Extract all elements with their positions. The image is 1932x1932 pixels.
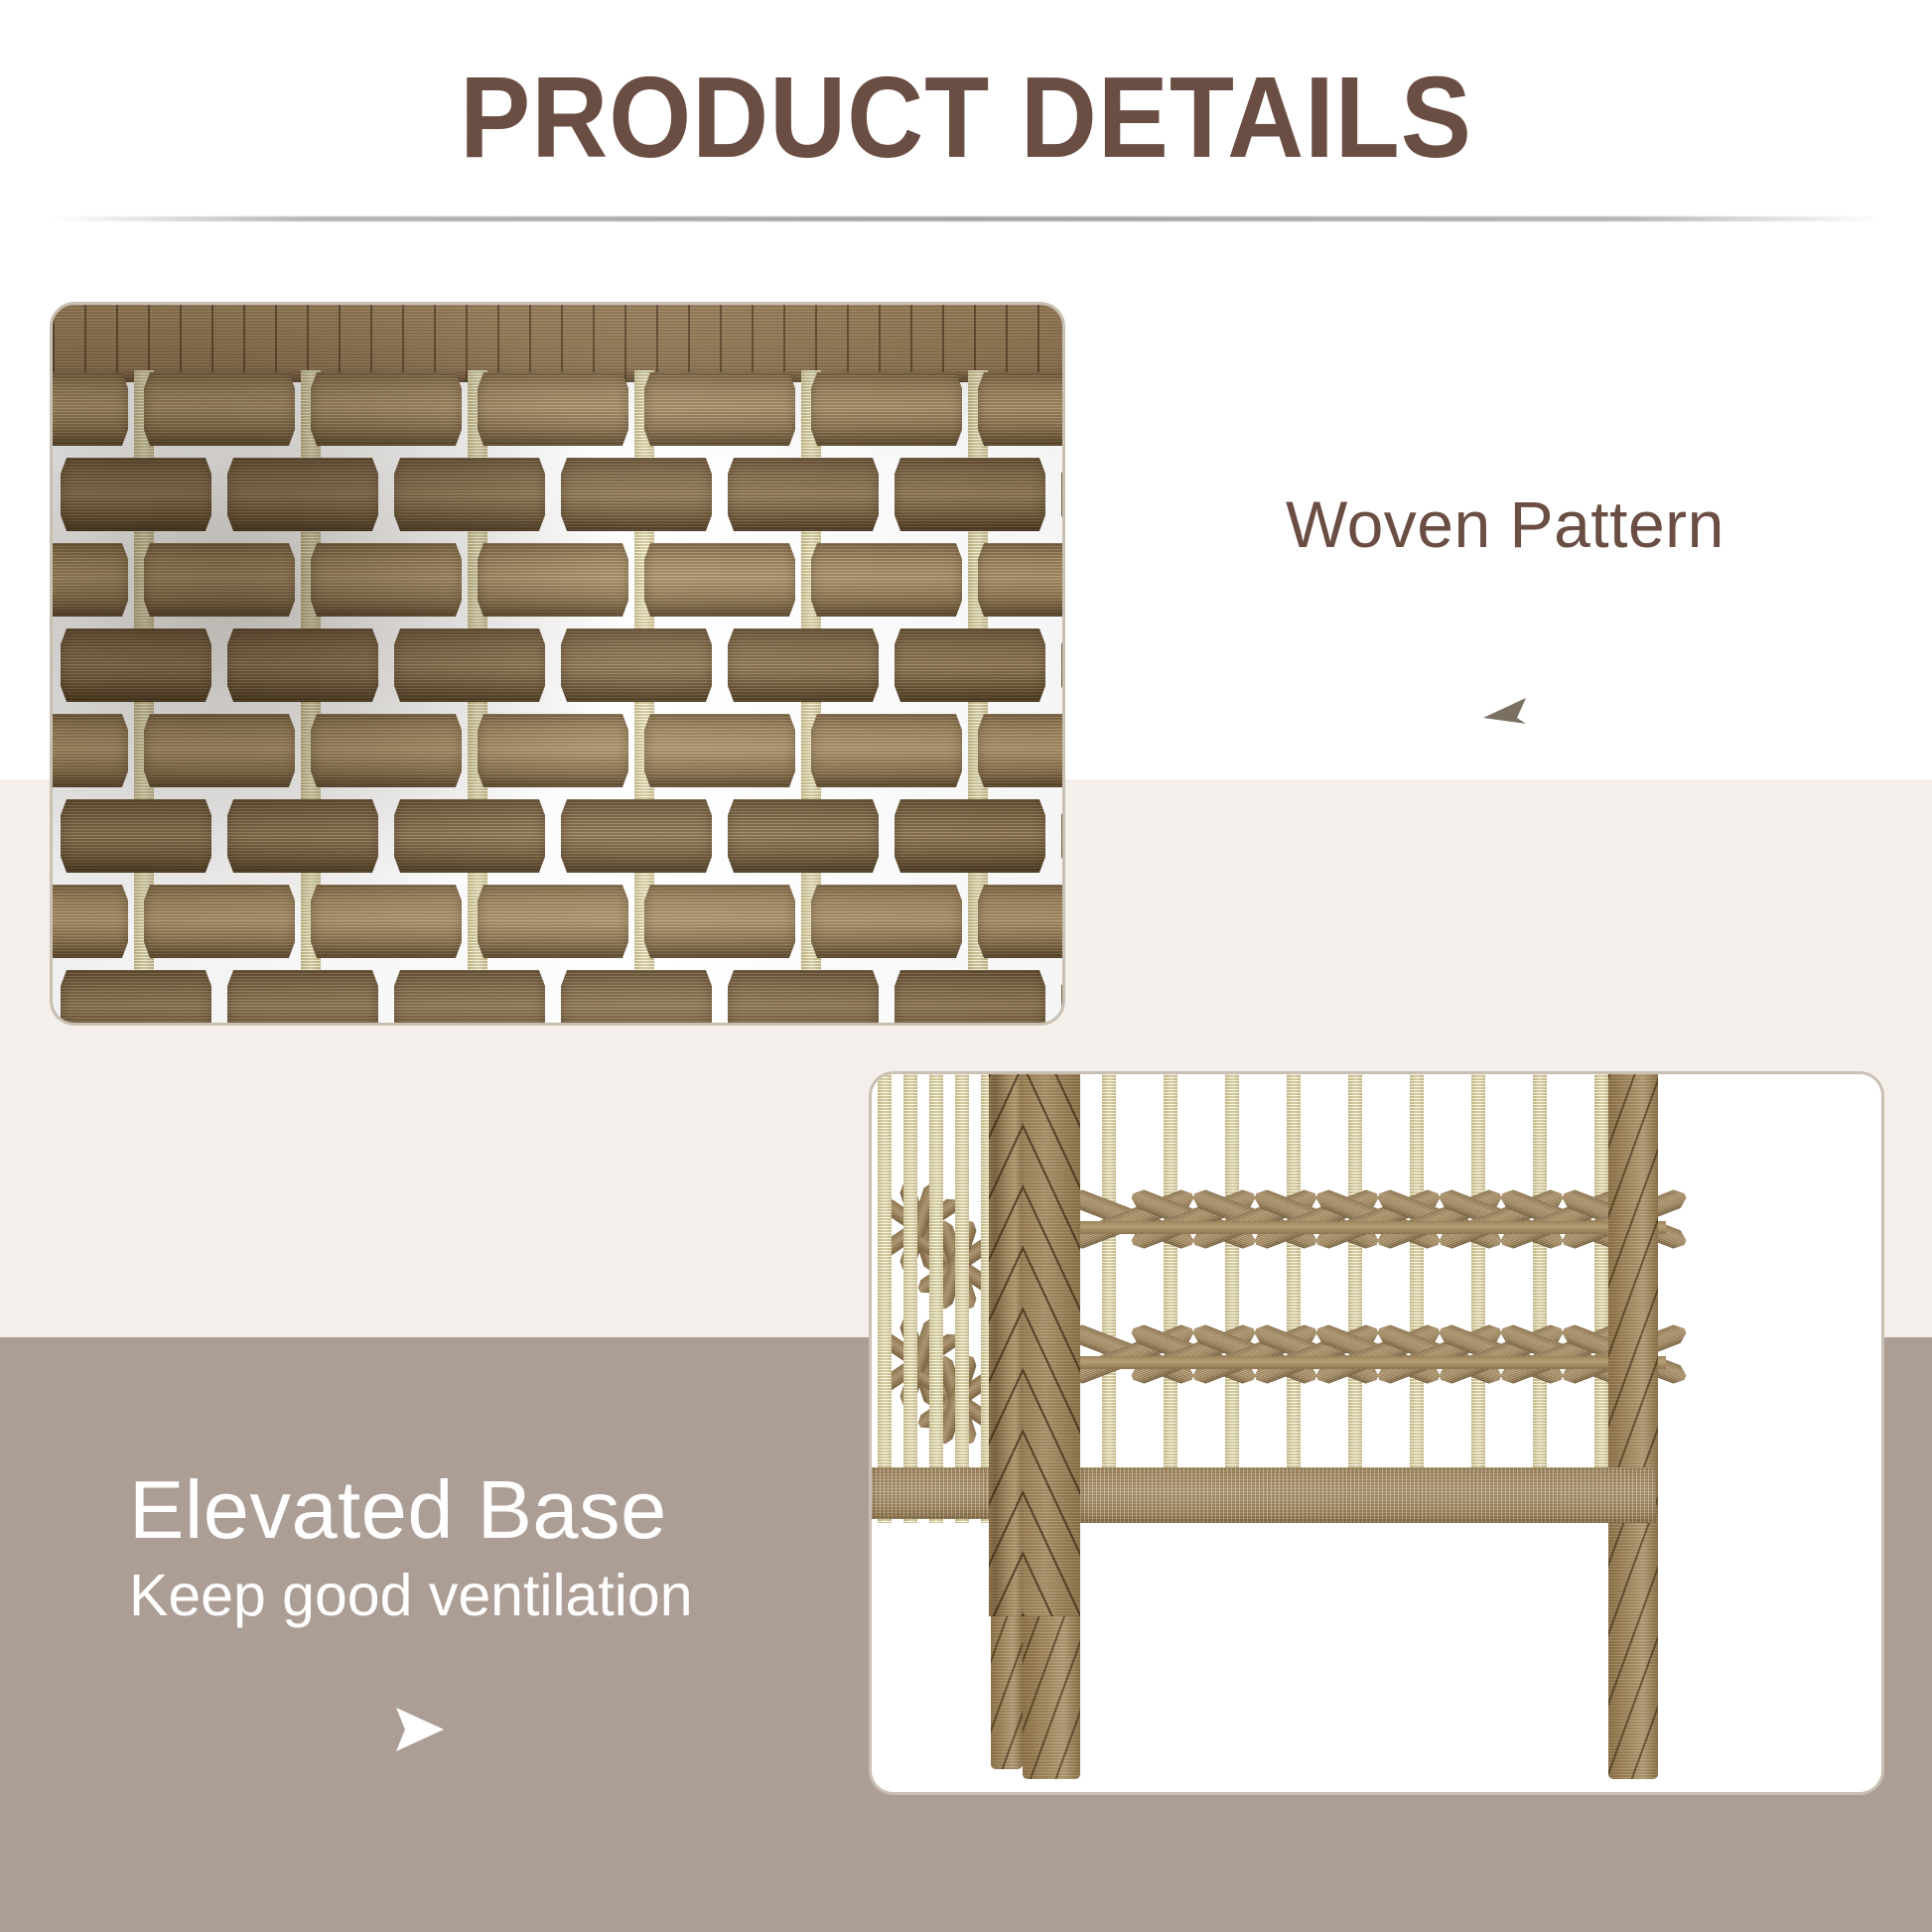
- elevated-base-title: Elevated Base: [129, 1467, 844, 1553]
- woven-pattern-illustration: [53, 305, 1062, 1023]
- planter-lattice-hbar: [1070, 1221, 1666, 1234]
- woven-strap: [311, 885, 462, 958]
- planter-vertical-post: [1471, 1074, 1485, 1521]
- woven-strap: [561, 970, 712, 1023]
- woven-strap-row: [53, 708, 1062, 793]
- woven-strap: [478, 714, 628, 787]
- woven-strap-row: [53, 793, 1062, 879]
- planter-side-post: [955, 1074, 969, 1523]
- woven-strap: [144, 885, 295, 958]
- planter-side-post: [929, 1074, 943, 1523]
- planter-side-knot: [911, 1219, 989, 1311]
- woven-pattern-label: Woven Pattern: [1286, 486, 1725, 562]
- woven-strap: [394, 799, 545, 873]
- woven-strap: [561, 458, 712, 531]
- woven-pattern-photo: [53, 305, 1062, 1023]
- planter-vertical-post: [1225, 1074, 1239, 1521]
- woven-strap: [311, 543, 462, 617]
- woven-strap: [61, 628, 211, 702]
- woven-strap: [394, 458, 545, 531]
- woven-strap: [53, 714, 128, 787]
- planter-corner-post-left: [989, 1074, 1023, 1616]
- woven-strap-row: [53, 879, 1062, 964]
- woven-strap: [478, 372, 628, 446]
- planter-vertical-post: [1102, 1074, 1116, 1521]
- woven-strap-row: [53, 537, 1062, 622]
- header-divider: [50, 216, 1882, 221]
- woven-strap: [1061, 628, 1062, 702]
- woven-strap-row: [53, 622, 1062, 708]
- woven-strap: [978, 885, 1062, 958]
- planter-vertical-post: [1533, 1074, 1547, 1521]
- woven-strap: [394, 970, 545, 1023]
- planter-vertical-post: [1164, 1074, 1177, 1521]
- woven-strap: [227, 628, 378, 702]
- planter-side-knot: [911, 1354, 989, 1446]
- planter-bottom-rail-left: [872, 1467, 1001, 1519]
- arrow-left-icon: [1479, 695, 1529, 743]
- woven-strap: [644, 543, 795, 617]
- woven-strap: [895, 458, 1045, 531]
- woven-strap-row: [53, 366, 1062, 452]
- elevated-base-illustration: [872, 1074, 1881, 1792]
- woven-strap: [227, 970, 378, 1023]
- woven-strap: [561, 799, 712, 873]
- woven-strap: [53, 885, 128, 958]
- woven-strap: [61, 458, 211, 531]
- planter-side-panel-weave: [872, 1074, 989, 1523]
- woven-strap: [394, 628, 545, 702]
- planter-vertical-post: [1287, 1074, 1301, 1521]
- woven-strap: [53, 543, 128, 617]
- woven-strap: [728, 799, 879, 873]
- woven-strap: [644, 372, 795, 446]
- woven-strap: [644, 714, 795, 787]
- planter-corner-post-face: [1023, 1074, 1080, 1616]
- infographic-canvas: PRODUCT DETAILS Woven Pattern E: [0, 0, 1932, 1932]
- woven-strap: [561, 628, 712, 702]
- woven-strap: [1061, 458, 1062, 531]
- woven-strap: [895, 799, 1045, 873]
- planter-vertical-post: [1594, 1074, 1608, 1521]
- woven-strap: [728, 970, 879, 1023]
- woven-strap: [811, 885, 962, 958]
- woven-strap: [227, 799, 378, 873]
- arrow-right-icon: [392, 1704, 448, 1755]
- woven-strap-row: [53, 452, 1062, 537]
- woven-strap: [811, 543, 962, 617]
- woven-strap: [144, 372, 295, 446]
- planter-vertical-post: [1348, 1074, 1362, 1521]
- woven-strap: [978, 714, 1062, 787]
- planter-side-post: [981, 1074, 989, 1523]
- planter-leg-right: [1608, 1074, 1658, 1779]
- woven-strap: [895, 970, 1045, 1023]
- elevated-base-subtitle: Keep good ventilation: [129, 1563, 844, 1628]
- woven-strap: [311, 372, 462, 446]
- planter-vertical-post: [1410, 1074, 1424, 1521]
- woven-strap: [144, 543, 295, 617]
- planter-side-post: [878, 1074, 892, 1523]
- woven-strap: [1061, 970, 1062, 1023]
- planter-side-post: [903, 1074, 917, 1523]
- woven-strap: [978, 372, 1062, 446]
- woven-strap: [728, 458, 879, 531]
- woven-strap-row: [53, 964, 1062, 1023]
- elevated-base-text-block: Elevated Base Keep good ventilation: [129, 1467, 844, 1628]
- woven-strap: [53, 372, 128, 446]
- page-title: PRODUCT DETAILS: [77, 58, 1855, 179]
- woven-strap: [811, 372, 962, 446]
- woven-strap: [478, 885, 628, 958]
- planter-lattice-hbar: [1070, 1356, 1666, 1369]
- woven-strap: [728, 628, 879, 702]
- woven-strap: [227, 458, 378, 531]
- woven-strap: [144, 714, 295, 787]
- woven-strap: [311, 714, 462, 787]
- woven-strap: [978, 543, 1062, 617]
- woven-strap: [61, 970, 211, 1023]
- woven-strap: [895, 628, 1045, 702]
- planter-bottom-rail-front: [1080, 1467, 1656, 1523]
- woven-strap: [644, 885, 795, 958]
- woven-strap: [61, 799, 211, 873]
- woven-strap: [478, 543, 628, 617]
- elevated-base-photo: [872, 1074, 1881, 1792]
- woven-strap: [1061, 799, 1062, 873]
- woven-strap: [811, 714, 962, 787]
